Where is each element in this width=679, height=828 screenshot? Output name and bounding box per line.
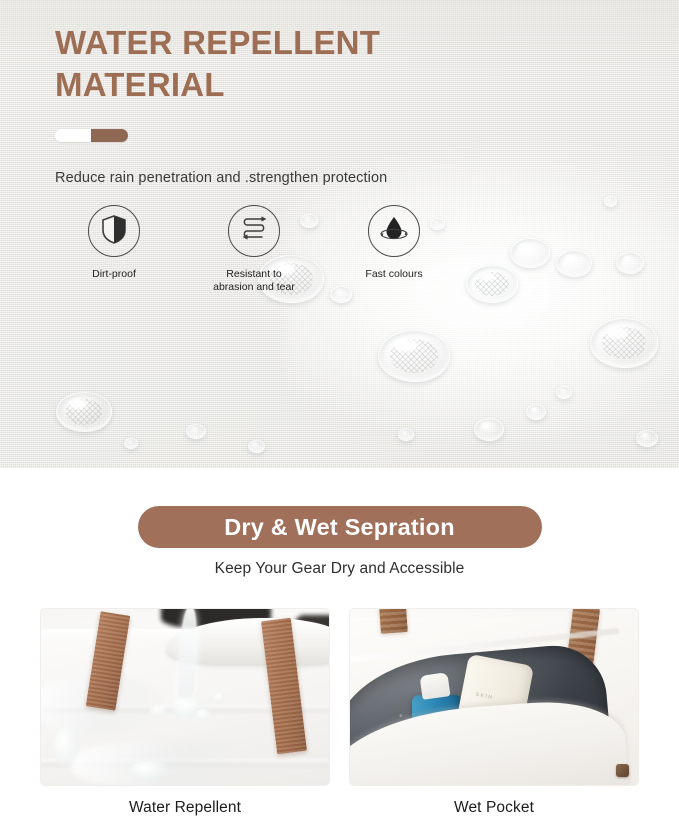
hero-subtitle: Reduce rain penetration and .strengthen …: [55, 170, 485, 186]
water-bead: [466, 265, 518, 303]
feature-label: Resistant toabrasion and tear: [213, 268, 295, 294]
water-droplet-orbit-icon: [378, 214, 410, 249]
water-splash: [53, 727, 79, 767]
feature-icon-ring: [88, 205, 140, 257]
divider-pill: [55, 129, 128, 142]
card-caption: Wet Pocket: [349, 799, 639, 817]
feature-fast-colours: Fast colours: [324, 205, 464, 294]
feature-icon-ring: [368, 205, 420, 257]
feature-label: Fast colours: [365, 268, 422, 281]
water-bead: [556, 250, 592, 277]
feature-dirt-proof: Dirt-proof: [44, 205, 184, 294]
water-bead: [56, 392, 112, 432]
water-bead: [510, 238, 550, 268]
water-bead: [526, 404, 546, 420]
separation-section: Dry & Wet Sepration Keep Your Gear Dry a…: [0, 468, 679, 828]
photo-wet-pocket: SKIN: [349, 608, 639, 786]
card-caption: Water Repellent: [40, 799, 330, 817]
tube-brand-label: SKIN: [475, 692, 494, 701]
page-title: WATER REPELLENT MATERIAL: [55, 22, 485, 106]
photo-water-repellent: [40, 608, 330, 786]
feature-list: Dirt-proof Resistant toabrasion and tear: [44, 205, 464, 294]
product-feature-page: WATER REPELLENT MATERIAL Reduce rain pen…: [0, 0, 679, 828]
water-bead: [186, 424, 206, 439]
water-splash: [149, 705, 169, 718]
water-splash: [129, 761, 169, 781]
water-bead: [590, 318, 658, 368]
abrasion-arrows-icon: [238, 214, 270, 249]
banner-subtitle: Keep Your Gear Dry and Accessible: [0, 560, 679, 578]
feature-label: Dirt-proof: [92, 268, 136, 281]
photo-card-list: Water Repellent SKIN: [40, 608, 639, 817]
hero-section: WATER REPELLENT MATERIAL Reduce rain pen…: [0, 0, 679, 468]
card-water-repellent: Water Repellent: [40, 608, 330, 817]
water-bead: [604, 196, 617, 207]
water-bead: [474, 418, 504, 441]
feature-abrasion-resistant: Resistant toabrasion and tear: [184, 205, 324, 294]
water-bead: [636, 430, 658, 447]
water-bead: [124, 438, 138, 449]
water-bead: [398, 428, 414, 441]
water-splash: [195, 709, 212, 721]
feature-icon-ring: [228, 205, 280, 257]
water-splash: [213, 693, 225, 702]
card-wet-pocket: SKIN Wet Pocket: [349, 608, 639, 817]
zipper-pull-icon: [616, 764, 629, 777]
fabric-light-sheen: [285, 159, 679, 449]
water-bead: [378, 330, 450, 382]
banner-label: Dry & Wet Sepration: [224, 514, 455, 541]
status-badge: Dry & Wet Sepration: [138, 506, 542, 548]
water-bead: [556, 386, 572, 399]
bag-strap-left: [379, 608, 408, 634]
shield-icon: [100, 214, 128, 249]
hero-content: WATER REPELLENT MATERIAL Reduce rain pen…: [55, 22, 485, 186]
water-bead: [616, 252, 644, 274]
water-bead: [248, 440, 265, 453]
